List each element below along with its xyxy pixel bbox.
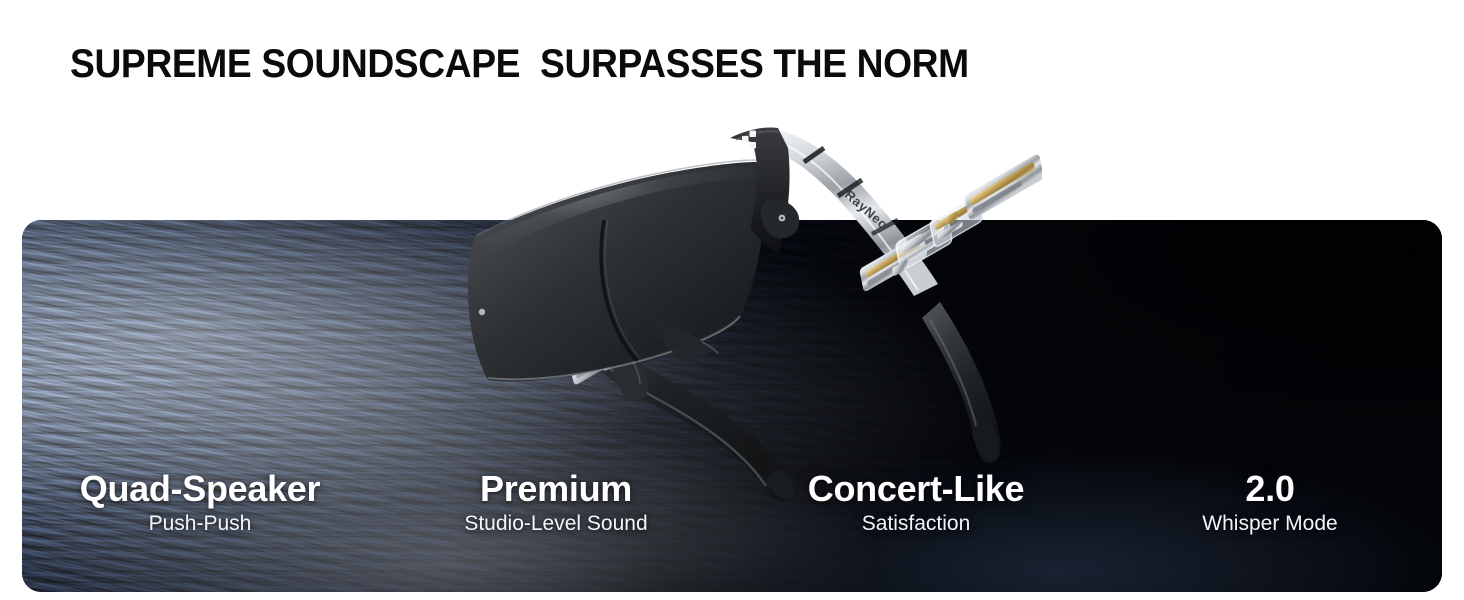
hero-panel [22, 220, 1442, 592]
page-title: SUPREME SOUNDSCAPE SURPASSES THE NORM [70, 41, 969, 87]
brand-logo-icon [742, 131, 756, 149]
panel-vignette [22, 220, 1442, 592]
promo-banner: SUPREME SOUNDSCAPE SURPASSES THE NORM [0, 0, 1464, 600]
